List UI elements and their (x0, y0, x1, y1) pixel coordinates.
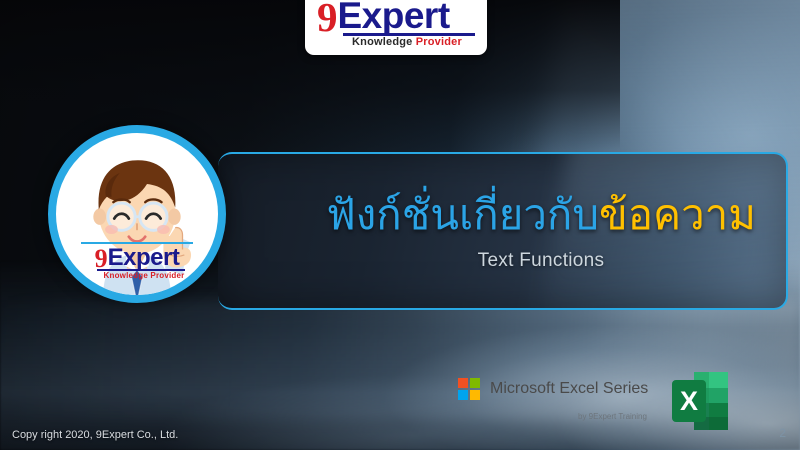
slide-title: ฟังก์ชั่นเกี่ยวกับข้อความ (326, 190, 756, 240)
slide-title-thai-yellow: ข้อความ (599, 190, 756, 239)
excel-letter-x: X (680, 386, 698, 416)
slide-title-thai-blue: ฟังก์ชั่นเกี่ยวกับ (326, 190, 599, 239)
ms-square-red (458, 378, 468, 388)
series-byline: by 9Expert Training (578, 412, 647, 421)
title-panel: ฟังก์ชั่นเกี่ยวกับข้อความ Text Functions (218, 152, 788, 310)
mascot-illustration (56, 133, 218, 295)
copyright-notice: Copy right 2020, 9Expert Co., Ltd. (12, 429, 178, 441)
excel-icon-glyph: X (668, 368, 734, 434)
logo-tagline-provider: Provider (416, 36, 462, 48)
logo-tagline-knowledge: Knowledge (352, 36, 412, 48)
microsoft-excel-series-block: Microsoft Excel Series (458, 378, 648, 400)
series-label: Microsoft Excel Series (490, 380, 648, 398)
page-number: 2 (779, 426, 786, 440)
microsoft-logo-icon (458, 378, 480, 400)
ms-square-green (470, 378, 480, 388)
logo-tagline: Knowledge Provider (339, 37, 475, 48)
excel-app-icon: X (668, 368, 734, 434)
ms-square-yellow (470, 390, 480, 400)
mascot-avatar: 9Expert Knowledge Provider (48, 125, 226, 303)
logo-nine-text: 9 (317, 0, 338, 40)
nineexpert-logo: 9Expert Knowledge Provider (317, 0, 475, 48)
brand-logo-plate: 9Expert Knowledge Provider (305, 0, 487, 55)
logo-expert-text: Expert (338, 0, 450, 36)
title-text-block: ฟังก์ชั่นเกี่ยวกับข้อความ Text Functions (314, 154, 768, 308)
ms-square-blue (458, 390, 468, 400)
slide-canvas: 9Expert Knowledge Provider ฟังก์ชั่นเกี่… (0, 0, 800, 450)
slide-subtitle: Text Functions (478, 250, 605, 272)
